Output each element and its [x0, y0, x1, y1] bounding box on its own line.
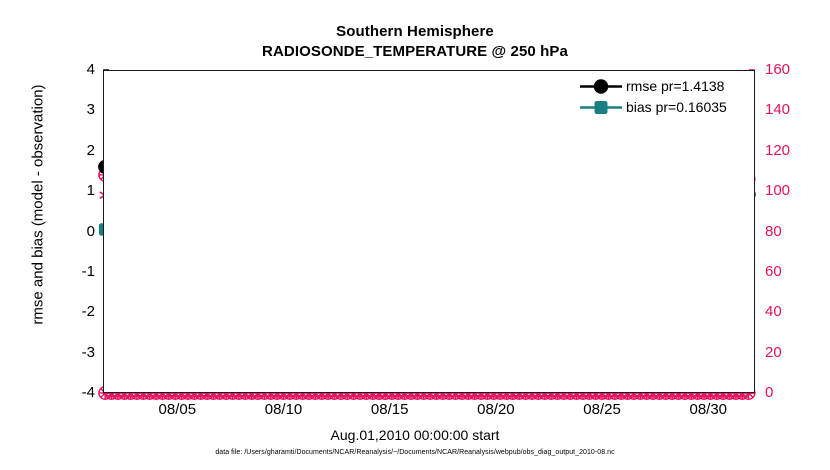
plot-axes-frame — [103, 70, 755, 393]
y-axis-left-label: rmse and bias (model - observation) — [30, 55, 47, 355]
y-tick-left-0: 0 — [55, 224, 95, 239]
start-time-caption: Aug.01,2010 00:00:00 start — [0, 427, 830, 443]
y-tick-left-1: 1 — [55, 183, 95, 198]
legend-row-bias: bias pr=0.16035 — [578, 97, 750, 118]
legend-label-rmse: rmse pr=1.4138 — [626, 78, 724, 94]
x-tick-08-20: 08/20 — [461, 402, 531, 417]
y-tick-right-0: 0 — [765, 385, 811, 400]
y-tick-right-140: 140 — [765, 102, 811, 117]
y-tick-left-neg4: -4 — [55, 385, 95, 400]
x-tick-08-05: 08/05 — [142, 402, 212, 417]
legend-label-bias: bias pr=0.16035 — [626, 99, 727, 115]
legend-row-rmse: rmse pr=1.4138 — [578, 76, 750, 97]
y-tick-right-120: 120 — [765, 143, 811, 158]
y-tick-right-80: 80 — [765, 224, 811, 239]
x-tick-08-10: 08/10 — [249, 402, 319, 417]
plot-page: Southern Hemisphere RADIOSONDE_TEMPERATU… — [0, 0, 830, 470]
y-tick-right-100: 100 — [765, 183, 811, 198]
y-tick-left-neg1: -1 — [55, 264, 95, 279]
y-tick-right-60: 60 — [765, 264, 811, 279]
y-tick-right-160: 160 — [765, 62, 811, 77]
y-tick-left-neg2: -2 — [55, 304, 95, 319]
data-file-caption: data file: /Users/gharamti/Documents/NCA… — [0, 449, 830, 456]
y-tick-left-2: 2 — [55, 143, 95, 158]
y-tick-left-neg3: -3 — [55, 345, 95, 360]
x-tick-08-30: 08/30 — [673, 402, 743, 417]
y-tick-right-20: 20 — [765, 345, 811, 360]
legend: rmse pr=1.4138 bias pr=0.16035 — [578, 76, 750, 118]
x-tick-08-25: 08/25 — [567, 402, 637, 417]
y-tick-right-40: 40 — [765, 304, 811, 319]
legend-sample-rmse-icon — [578, 76, 624, 97]
legend-sample-bias-icon — [578, 97, 624, 118]
y-tick-left-3: 3 — [55, 102, 95, 117]
y-tick-left-4: 4 — [55, 62, 95, 77]
x-tick-08-15: 08/15 — [355, 402, 425, 417]
